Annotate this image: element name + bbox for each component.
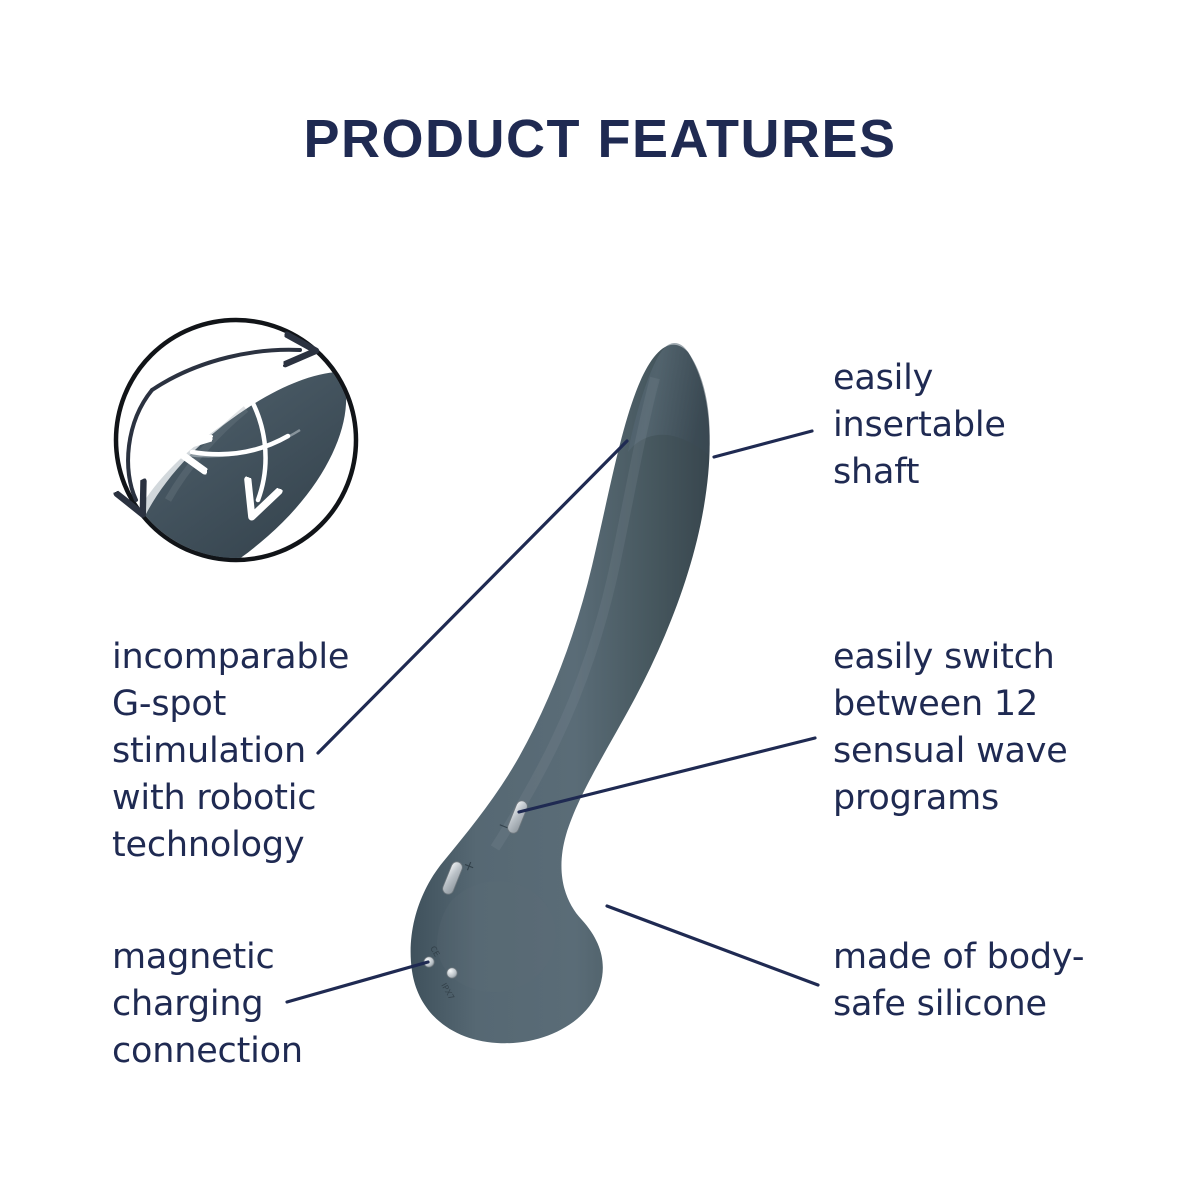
callout-gspot-stimulation: incomparable G-spot stimulation with rob…	[112, 634, 372, 869]
charging-pin-2	[447, 968, 457, 978]
inset-arrow-bottom	[128, 390, 152, 500]
callout-insertable-shaft: easily insertable shaft	[833, 355, 1083, 496]
callout-body-safe-silicone: made of body- safe silicone	[833, 934, 1093, 1028]
callout-switch-programs: easily switch between 12 sensual wave pr…	[833, 634, 1093, 822]
robotic-motion-inset	[116, 320, 356, 591]
product-illustration: − + CE IPX7	[411, 343, 710, 1043]
product-features-page: PRODUCT FEATURES	[0, 0, 1200, 1200]
inset-arrow-top	[152, 350, 300, 390]
callout-magnetic-charging: magnetic charging connection	[112, 934, 362, 1075]
leader-insertable-shaft	[714, 431, 812, 457]
leader-body-safe-silicone	[607, 906, 818, 985]
